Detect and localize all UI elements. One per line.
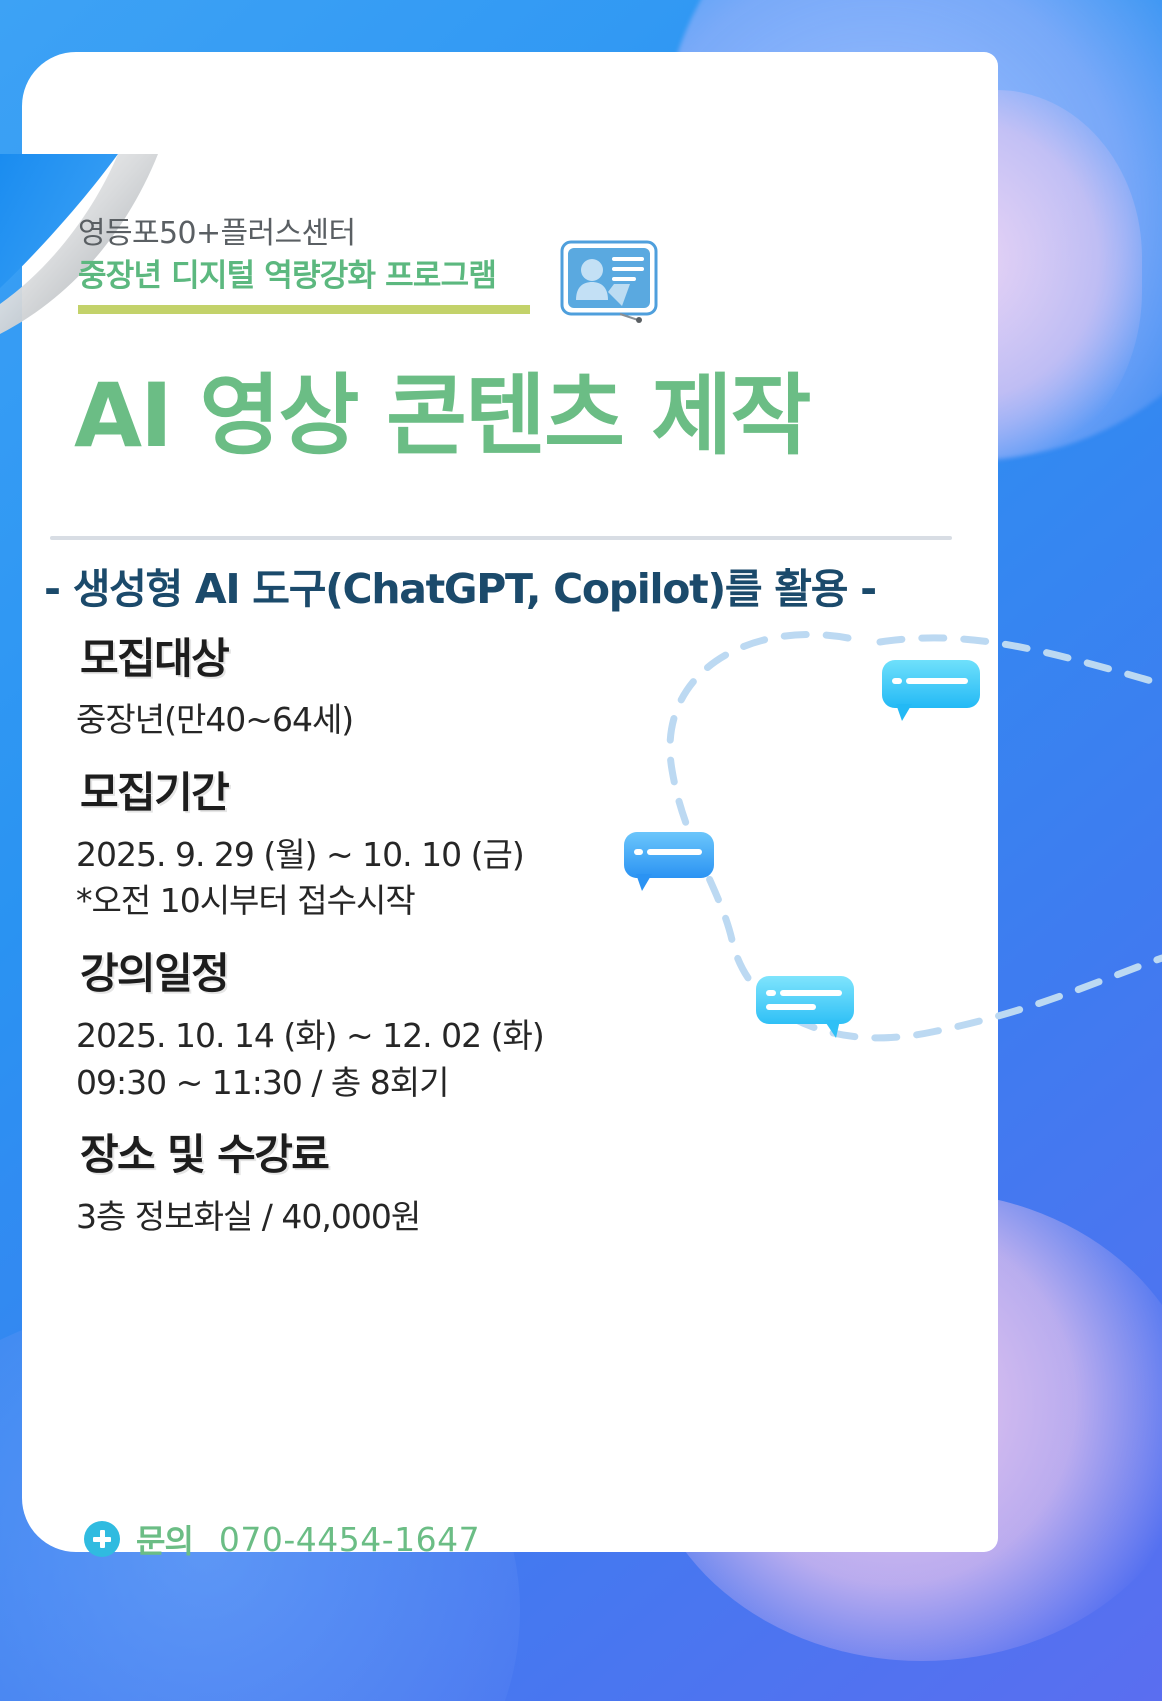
section-heading: 모집대상 xyxy=(76,636,238,681)
section-body-line: 2025. 9. 29 (월) ~ 10. 10 (금) xyxy=(76,832,596,879)
id-card-person-icon xyxy=(560,240,664,328)
section-body: 3층 정보화실 / 40,000원 xyxy=(76,1194,596,1241)
section-heading: 장소 및 수강료 xyxy=(76,1132,338,1177)
plus-circle-icon xyxy=(84,1521,120,1557)
contact-phone[interactable]: 070-4454-1647 xyxy=(219,1520,480,1559)
section-heading-text: 강의일정 xyxy=(80,949,228,998)
section-recruit-period: 모집기간 2025. 9. 29 (월) ~ 10. 10 (금) *오전 10… xyxy=(76,770,596,925)
brand-underline xyxy=(78,305,530,314)
section-body-line: 3층 정보화실 / 40,000원 xyxy=(76,1194,596,1241)
section-heading-text: 장소 및 수강료 xyxy=(80,1130,328,1179)
section-location-fee: 장소 및 수강료 3층 정보화실 / 40,000원 xyxy=(76,1132,596,1240)
section-body-line: *오전 10시부터 접수시작 xyxy=(76,878,596,925)
section-body: 2025. 10. 14 (화) ~ 12. 02 (화) 09:30 ~ 11… xyxy=(76,1013,596,1107)
title-divider xyxy=(50,536,952,540)
section-body-line: 2025. 10. 14 (화) ~ 12. 02 (화) xyxy=(76,1013,596,1060)
section-heading-text: 모집대상 xyxy=(80,634,228,683)
info-sections: 모집대상 중장년(만40~64세) 모집기간 2025. 9. 29 (월) ~… xyxy=(76,636,596,1241)
section-body: 중장년(만40~64세) xyxy=(76,697,596,744)
page-subtitle: - 생성형 AI 도구(ChatGPT, Copilot)를 활용 - xyxy=(44,555,944,615)
section-body: 2025. 9. 29 (월) ~ 10. 10 (금) *오전 10시부터 접… xyxy=(76,832,596,926)
poster-root: 영등포50+플러스센터 중장년 디지털 역량강화 프로그램 AI 영상 콘텐츠 … xyxy=(0,0,1162,1701)
section-heading-text: 모집기간 xyxy=(80,768,228,817)
section-body-line: 중장년(만40~64세) xyxy=(76,697,596,744)
section-recruit-target: 모집대상 중장년(만40~64세) xyxy=(76,636,596,744)
section-heading: 모집기간 xyxy=(76,770,238,815)
section-body-line: 09:30 ~ 11:30 / 총 8회기 xyxy=(76,1060,596,1107)
contact-label: 문의 xyxy=(136,1516,193,1562)
section-heading: 강의일정 xyxy=(76,951,238,996)
section-class-schedule: 강의일정 2025. 10. 14 (화) ~ 12. 02 (화) 09:30… xyxy=(76,951,596,1106)
contact-block: 문의 070-4454-1647 xyxy=(84,1516,480,1562)
page-title: AI 영상 콘텐츠 제작 xyxy=(74,372,954,460)
